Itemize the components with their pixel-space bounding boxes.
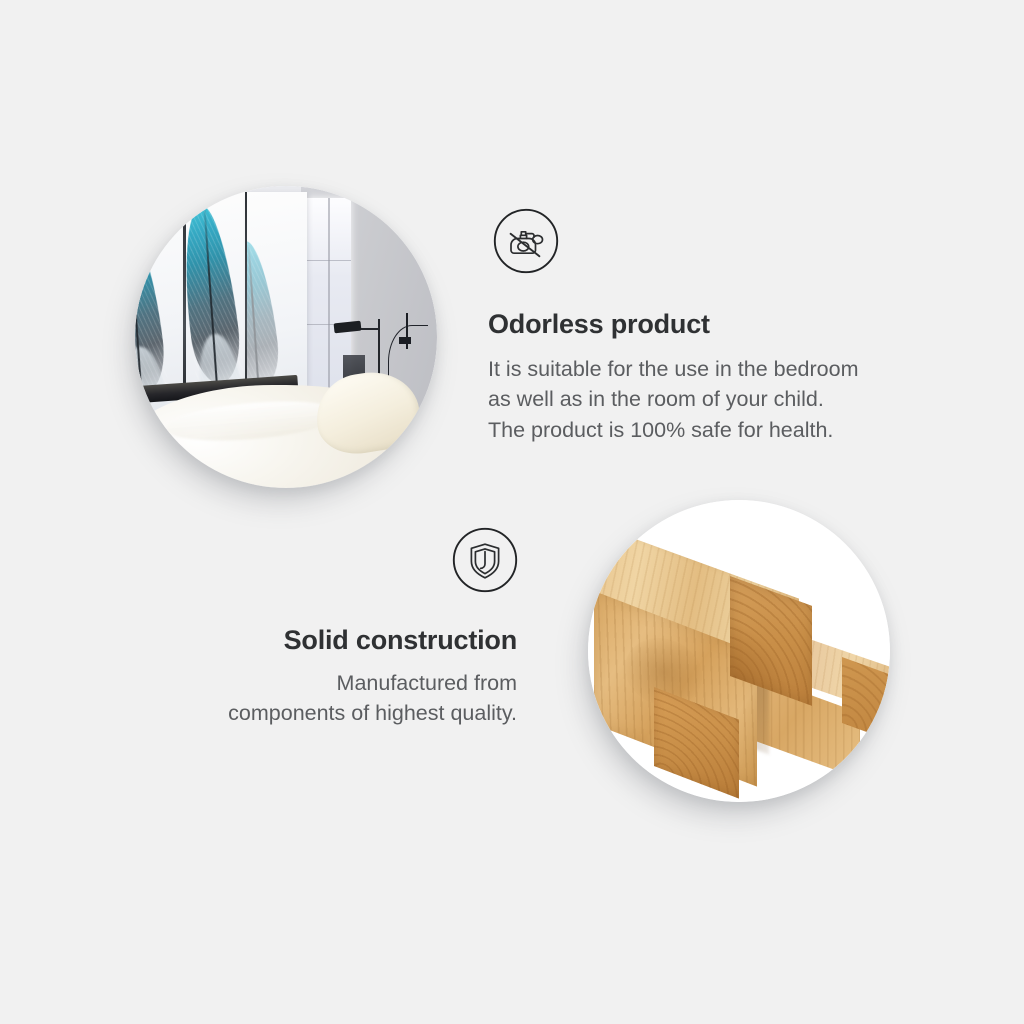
teal-feather-3 <box>247 239 283 391</box>
bedroom-desk-lamp-arm <box>359 328 380 330</box>
no-perfume-icon <box>493 208 559 274</box>
feature-text-solid: Solid construction Manufactured from com… <box>155 626 517 729</box>
photo-clip <box>135 186 437 488</box>
no-perfume-icon-glyph <box>493 208 559 274</box>
teal-feather-2 <box>185 203 245 386</box>
feature-title-solid: Solid construction <box>155 626 517 656</box>
infographic-canvas: Odorless product It is suitable for the … <box>0 0 1024 1024</box>
floor-lamp-joint <box>399 337 411 344</box>
feature-body-solid: Manufactured from components of highest … <box>155 668 517 729</box>
bedroom-scene <box>135 186 437 488</box>
photo-clip <box>588 500 890 802</box>
feather-barbs <box>185 203 245 386</box>
feather-barbs <box>247 239 283 391</box>
feature-text-odorless: Odorless product It is suitable for the … <box>488 310 928 445</box>
window-mullion <box>328 198 330 397</box>
feature-title-odorless: Odorless product <box>488 310 928 340</box>
bedroom-with-feather-triptych-photo <box>135 186 437 488</box>
shield-icon-glyph <box>452 527 518 593</box>
feature-body-odorless: It is suitable for the use in the bedroo… <box>488 354 928 446</box>
shield-icon <box>452 527 518 593</box>
wooden-beams-scene <box>588 500 890 802</box>
canvas-panel-1 <box>135 192 183 415</box>
teal-feather-1 <box>135 226 169 396</box>
wooden-beams-photo <box>588 500 890 802</box>
